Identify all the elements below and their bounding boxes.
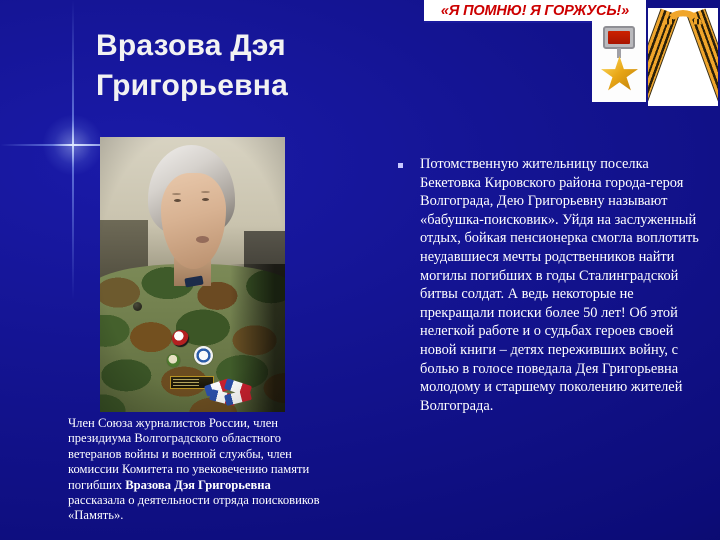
photo-caption: Член Союза журналистов России, член през… xyxy=(68,416,320,524)
caption-text-after: рассказала о деятельности отряда поисков… xyxy=(68,493,320,522)
slide-title: Вразова Дэя Григорьевна xyxy=(96,26,426,106)
medal-link xyxy=(617,48,621,58)
presentation-slide: Вразова Дэя Григорьевна «Я ПОМНЮ! Я ГОРЖ… xyxy=(0,0,720,540)
medal-star-shape xyxy=(601,56,638,93)
photo-vignette xyxy=(100,137,285,412)
medal-ribbon-red xyxy=(608,31,630,44)
st-george-ribbon-icon xyxy=(648,8,718,106)
light-flare-glow xyxy=(43,115,103,175)
square-bullet-icon xyxy=(398,163,403,168)
caption-person-name: Вразова Дэя Григорьевна xyxy=(125,478,271,492)
body-bullet-item: Потомственную жительницу поселка Бекетов… xyxy=(398,155,710,415)
body-paragraph: Потомственную жительницу поселка Бекетов… xyxy=(420,155,710,415)
medal-suspension-bar xyxy=(603,26,635,49)
gold-star-medal-icon xyxy=(592,20,646,102)
portrait-photo xyxy=(100,137,285,412)
memorial-banner-text: «Я ПОМНЮ! Я ГОРЖУСЬ!» xyxy=(441,3,629,18)
light-flare-vertical xyxy=(72,0,74,300)
